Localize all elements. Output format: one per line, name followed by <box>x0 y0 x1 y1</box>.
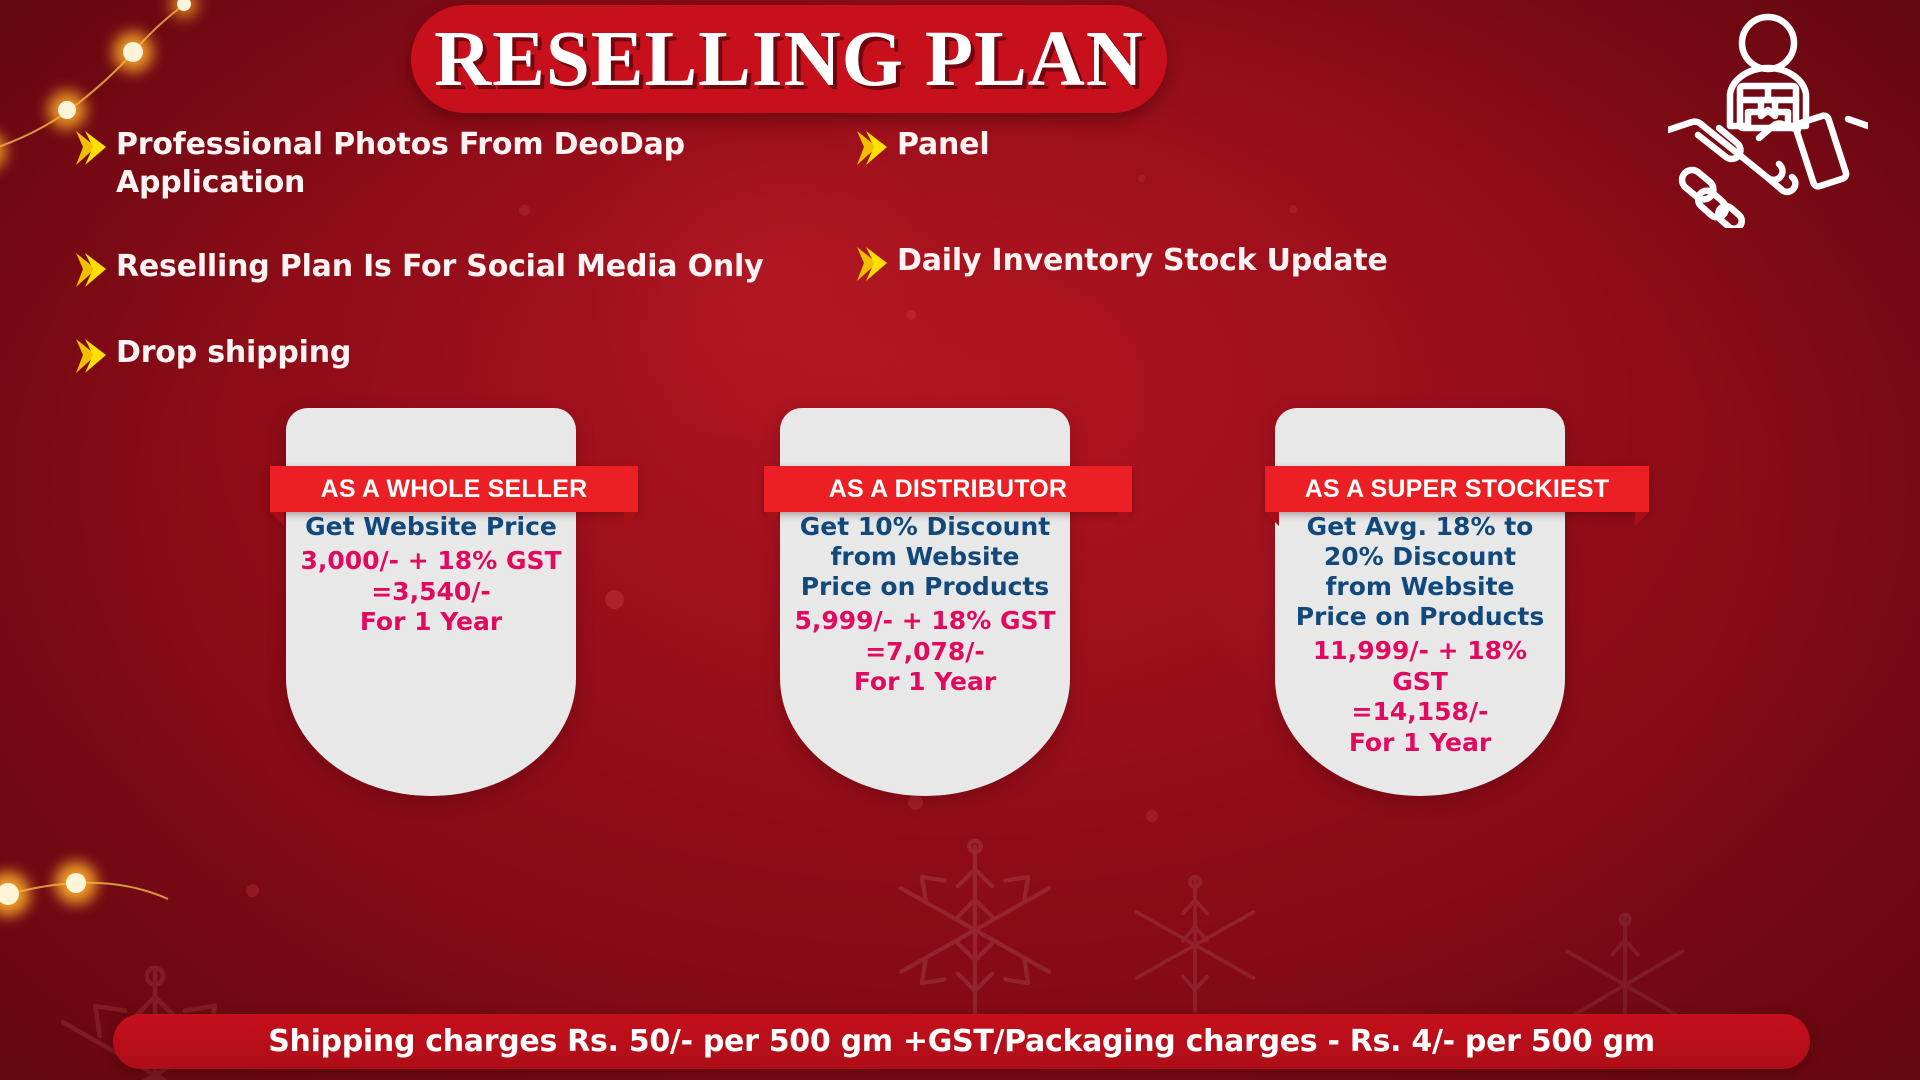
shipping-charges-text: Shipping charges Rs. 50/- per 500 gm +GS… <box>268 1024 1655 1059</box>
pricing-card-whole-seller[interactable]: AS A WHOLE SELLER Get Website Price 3,00… <box>286 408 576 796</box>
ribbon-fold-right <box>1635 512 1649 526</box>
pricing-card-price: 11,999/- + 18% GST =14,158/- For 1 Year <box>1275 636 1565 758</box>
pricing-card-super-stockiest[interactable]: AS A SUPER STOCKIEST Get Avg. 18% to 20%… <box>1275 408 1565 796</box>
pricing-card-price: 5,999/- + 18% GST =7,078/- For 1 Year <box>780 606 1070 698</box>
pricing-card-ribbon-label: AS A WHOLE SELLER <box>321 475 588 504</box>
pricing-card-body: AS A WHOLE SELLER Get Website Price 3,00… <box>286 408 576 796</box>
pricing-card-ribbon: AS A DISTRIBUTOR <box>764 466 1132 512</box>
feature-item: Drop shipping <box>74 334 844 376</box>
pricing-card-heading: Get Website Price <box>286 512 576 542</box>
feature-label: Daily Inventory Stock Update <box>897 242 1388 280</box>
chevron-right-icon <box>855 128 889 168</box>
pricing-card-heading: Get 10% Discount from Website Price on P… <box>780 512 1070 602</box>
feature-item: Reselling Plan Is For Social Media Only <box>74 248 844 290</box>
background-dot <box>246 884 259 897</box>
pricing-card-price: 3,000/- + 18% GST =3,540/- For 1 Year <box>286 546 576 638</box>
snowflake-decoration <box>880 835 1070 1025</box>
pricing-card-ribbon-label: AS A SUPER STOCKIEST <box>1305 475 1610 504</box>
page-title-banner: RESELLING PLAN <box>411 5 1167 113</box>
handshake-partnership-icon <box>1668 8 1868 228</box>
chevron-right-icon <box>74 336 108 376</box>
ribbon-fold-right <box>1118 512 1132 526</box>
pricing-card-body: AS A DISTRIBUTOR Get 10% Discount from W… <box>780 408 1070 796</box>
pricing-card-body: AS A SUPER STOCKIEST Get Avg. 18% to 20%… <box>1275 408 1565 796</box>
feature-item: Panel <box>855 126 1495 168</box>
slide-canvas: RESELLING PLAN <box>0 0 1920 1080</box>
chevron-right-icon <box>74 250 108 290</box>
pricing-card-ribbon: AS A SUPER STOCKIEST <box>1265 466 1649 512</box>
pricing-card-ribbon: AS A WHOLE SELLER <box>270 466 638 512</box>
page-title: RESELLING PLAN <box>434 20 1144 99</box>
feature-label: Panel <box>897 126 989 164</box>
feature-label: Reselling Plan Is For Social Media Only <box>116 248 763 286</box>
pricing-card-heading: Get Avg. 18% to 20% Discount from Websit… <box>1275 512 1565 632</box>
string-lights-decoration <box>0 855 238 995</box>
ribbon-fold-right <box>624 512 638 526</box>
ribbon-fold-left <box>764 512 778 526</box>
pricing-card-ribbon-label: AS A DISTRIBUTOR <box>829 475 1067 504</box>
pricing-plans-group: AS A WHOLE SELLER Get Website Price 3,00… <box>0 408 1920 828</box>
pricing-card-distributor[interactable]: AS A DISTRIBUTOR Get 10% Discount from W… <box>780 408 1070 796</box>
feature-item: Professional Photos From DeoDap Applicat… <box>74 126 844 202</box>
ribbon-fold-left <box>1265 512 1279 526</box>
feature-item: Daily Inventory Stock Update <box>855 242 1495 284</box>
chevron-right-icon <box>855 244 889 284</box>
ribbon-fold-left <box>270 512 284 526</box>
feature-label: Drop shipping <box>116 334 351 372</box>
feature-list-right: Panel Daily Inventory Stock Update <box>855 126 1495 312</box>
shipping-charges-footer: Shipping charges Rs. 50/- per 500 gm +GS… <box>113 1014 1810 1069</box>
feature-list-left: Professional Photos From DeoDap Applicat… <box>74 126 844 404</box>
chevron-right-icon <box>74 128 108 168</box>
feature-label: Professional Photos From DeoDap Applicat… <box>116 126 844 202</box>
snowflake-decoration <box>1120 870 1270 1020</box>
